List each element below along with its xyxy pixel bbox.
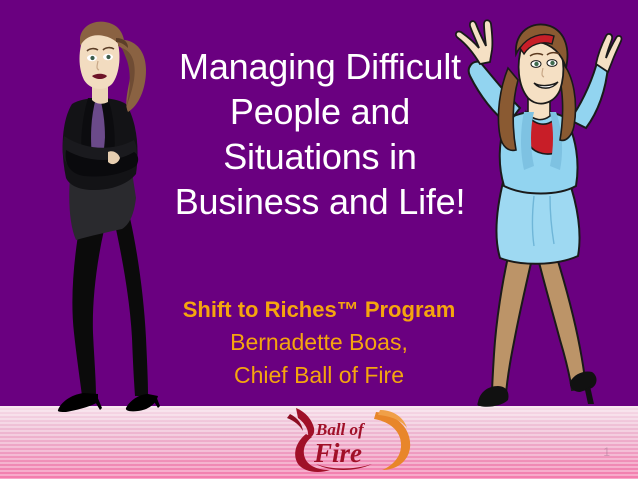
title-line-1: Managing Difficult [118, 44, 522, 89]
logo-text-top: Ball of [315, 420, 366, 439]
title-line-3: Situations in [118, 134, 522, 179]
presentation-slide: Managing Difficult People and Situations… [0, 0, 638, 479]
title-line-2: People and [118, 89, 522, 134]
subtitle-program: Shift to Riches™ Program [109, 293, 529, 326]
subtitle: Shift to Riches™ Program Bernadette Boas… [109, 293, 529, 392]
page-title: Managing Difficult People and Situations… [118, 44, 522, 224]
title-line-4: Business and Life! [118, 179, 522, 224]
logo-text-bottom: Fire [313, 438, 362, 468]
subtitle-presenter-name: Bernadette Boas, [109, 326, 529, 359]
ball-of-fire-logo: Ball of Fire [272, 404, 424, 474]
subtitle-presenter-title: Chief Ball of Fire [109, 359, 529, 392]
page-number: 1 [603, 445, 610, 459]
